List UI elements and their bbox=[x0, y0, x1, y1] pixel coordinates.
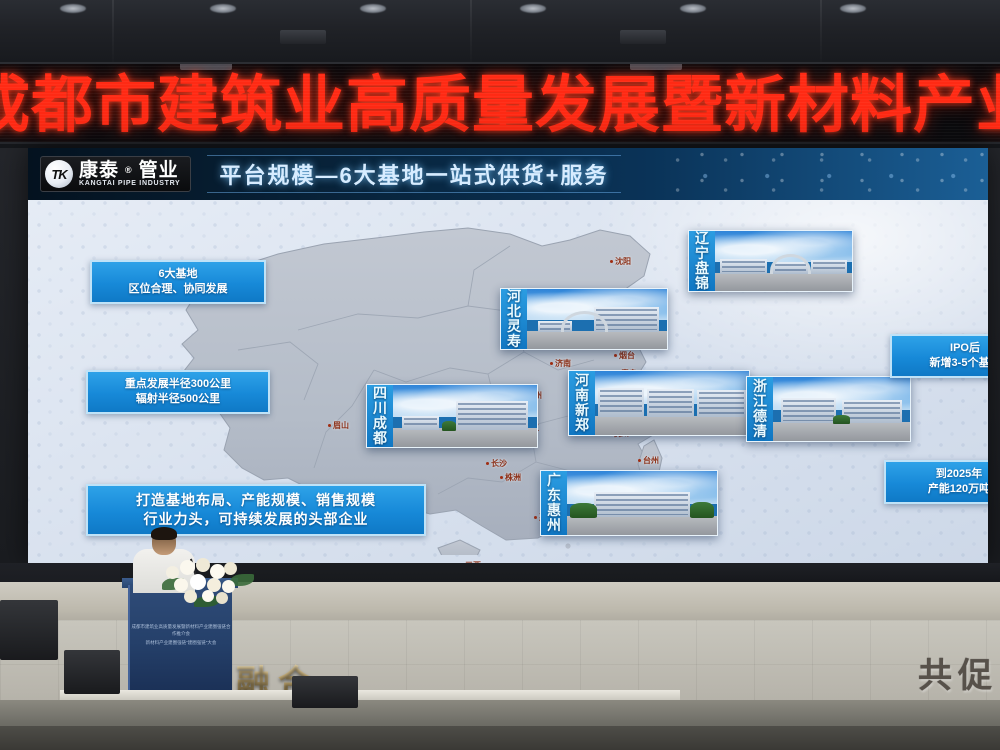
logo-registered-mark: ® bbox=[125, 161, 133, 180]
map-city-dot-icon bbox=[614, 354, 617, 357]
logo-cn-name: 康泰 bbox=[79, 161, 119, 180]
callout-radius[interactable]: 重点发展半径300公里 辐射半径500公里 bbox=[86, 370, 270, 414]
map-city-name: 眉山 bbox=[333, 420, 349, 431]
conference-room-photo: 成都市建筑业高质量发展暨新材料产业建圈强链合 TK 康泰 ® 管业 bbox=[0, 0, 1000, 750]
base-label-hebei-lingshou: 河北灵寿 bbox=[501, 289, 527, 349]
map-city-label: 眉山 bbox=[328, 420, 349, 431]
map-city-dot-icon bbox=[500, 476, 503, 479]
stage-equipment-left bbox=[0, 600, 58, 660]
callout-line: 重点发展半径300公里 bbox=[98, 377, 258, 392]
callout-line: 产能120万吨 bbox=[896, 482, 988, 497]
base-photo-hebei-lingshou bbox=[527, 289, 667, 349]
callout-capacity-2025[interactable]: 到2025年 产能120万吨 bbox=[884, 460, 988, 504]
base-photo-henan-xinzheng bbox=[595, 371, 749, 435]
callout-leader-goal[interactable]: 打造基地布局、产能规模、销售规模 行业力头，可持续发展的头部企业 bbox=[86, 484, 426, 536]
led-mount-bracket bbox=[180, 62, 232, 70]
podium-print-line-1: 成都市建筑业高质量发展暨新材料产业建圈强链合作推介会 bbox=[130, 623, 232, 637]
map-city-dot-icon bbox=[610, 260, 613, 263]
ceiling-seam bbox=[112, 0, 114, 70]
logo-cn-name-2: 管业 bbox=[139, 161, 179, 180]
base-card-guangdong-huizhou[interactable]: 广东惠州 bbox=[540, 470, 718, 536]
ceiling-light bbox=[60, 4, 86, 13]
callout-line: 6大基地 bbox=[102, 267, 254, 282]
map-city-name: 烟台 bbox=[619, 350, 635, 361]
callout-line: 区位合理、协同发展 bbox=[102, 282, 254, 297]
base-label-liaoning-panjin: 辽宁盘锦 bbox=[689, 231, 715, 291]
stage-monitor-speaker bbox=[64, 650, 120, 694]
ceiling-vent bbox=[280, 30, 326, 44]
base-card-liaoning-panjin[interactable]: 辽宁盘锦 bbox=[688, 230, 853, 292]
logo-en-name: KANGTAI PIPE INDUSTRY bbox=[79, 180, 180, 188]
ceiling-light bbox=[360, 4, 386, 13]
map-city-dot-icon bbox=[328, 424, 331, 427]
ceiling-light bbox=[680, 4, 706, 13]
map-city-label: 烟台 bbox=[614, 350, 635, 361]
ceiling-light bbox=[210, 4, 236, 13]
map-city-label: 株洲 bbox=[500, 472, 521, 483]
ceiling bbox=[0, 0, 1000, 70]
slide-title: 平台规模—6大基地一站式供货+服务 bbox=[219, 158, 608, 190]
map-hainan bbox=[438, 540, 480, 555]
callout-line: 行业力头，可持续发展的头部企业 bbox=[98, 510, 414, 529]
company-logo: TK 康泰 ® 管业 KANGTAI PIPE INDUSTRY bbox=[40, 156, 191, 192]
led-banner-text: 成都市建筑业高质量发展暨新材料产业建圈强链合 bbox=[0, 70, 1000, 142]
stage-letters-right: 共促 bbox=[918, 648, 998, 697]
map-city-name: 长沙 bbox=[491, 458, 507, 469]
callout-line: IPO后 bbox=[902, 341, 988, 356]
flower-arrangement bbox=[160, 556, 256, 608]
podium-print-line-2: 新材料产业建圈强链"建圈强链"大会 bbox=[130, 639, 232, 646]
callout-line: 新增3-5个基地 bbox=[902, 356, 988, 371]
led-banner: 成都市建筑业高质量发展暨新材料产业建圈强链合 bbox=[0, 62, 1000, 144]
base-photo-liaoning-panjin bbox=[715, 231, 852, 291]
base-photo-guangdong-huizhou bbox=[567, 471, 717, 535]
callout-line: 打造基地布局、产能规模、销售规模 bbox=[98, 491, 414, 510]
map-city-dot-icon bbox=[534, 516, 537, 519]
wall-left bbox=[0, 148, 28, 563]
ceiling-seam bbox=[820, 0, 822, 70]
callout-line: 到2025年 bbox=[896, 467, 988, 482]
slide-title-container: 平台规模—6大基地一站式供货+服务 bbox=[207, 155, 620, 193]
callout-line: 辐射半径500公里 bbox=[98, 392, 258, 407]
base-photo-sichuan-chengdu bbox=[393, 385, 537, 447]
map-city-label: 济南 bbox=[550, 358, 571, 369]
map-city-name: 沈阳 bbox=[615, 256, 631, 267]
ceiling-light bbox=[840, 4, 866, 13]
map-city-label: 长沙 bbox=[486, 458, 507, 469]
presentation-slide: TK 康泰 ® 管业 KANGTAI PIPE INDUSTRY 平台规模—6大… bbox=[28, 148, 988, 563]
base-card-zhejiang-deqing[interactable]: 浙江德清 bbox=[746, 376, 911, 442]
base-label-guangdong-huizhou: 广东惠州 bbox=[541, 471, 567, 535]
floor-front bbox=[0, 726, 1000, 750]
base-label-henan-xinzheng: 河南新郑 bbox=[569, 371, 595, 435]
speaker-hair bbox=[151, 527, 177, 540]
base-card-sichuan-chengdu[interactable]: 四川成都 bbox=[366, 384, 538, 448]
ceiling-vent bbox=[620, 30, 666, 44]
callout-six-bases[interactable]: 6大基地 区位合理、协同发展 bbox=[90, 260, 266, 304]
led-mount-bracket bbox=[630, 62, 682, 70]
projection-screen: TK 康泰 ® 管业 KANGTAI PIPE INDUSTRY 平台规模—6大… bbox=[28, 148, 988, 563]
wall-right bbox=[988, 148, 1000, 563]
base-label-sichuan-chengdu: 四川成都 bbox=[367, 385, 393, 447]
base-card-henan-xinzheng[interactable]: 河南新郑 bbox=[568, 370, 750, 436]
map-city-name: 济南 bbox=[555, 358, 571, 369]
map-city-dot-icon bbox=[550, 362, 553, 365]
slide-header: TK 康泰 ® 管业 KANGTAI PIPE INDUSTRY 平台规模—6大… bbox=[28, 148, 988, 200]
base-label-zhejiang-deqing: 浙江德清 bbox=[747, 377, 773, 441]
ceiling-seam bbox=[470, 0, 472, 70]
header-sparkle-decoration bbox=[668, 148, 988, 200]
base-card-hebei-lingshou[interactable]: 河北灵寿 bbox=[500, 288, 668, 350]
map-city-name: 台州 bbox=[643, 455, 659, 466]
map-city-dot-icon bbox=[638, 459, 641, 462]
map-city-label: 沈阳 bbox=[610, 256, 631, 267]
callout-ipo-expansion[interactable]: IPO后 新增3-5个基地 bbox=[890, 334, 988, 378]
logo-mark-icon: TK bbox=[45, 160, 73, 188]
map-city-dot-icon bbox=[486, 462, 489, 465]
ceiling-light bbox=[520, 4, 546, 13]
stage-step bbox=[292, 676, 358, 708]
map-city-label: 台州 bbox=[638, 455, 659, 466]
map-city-name: 株洲 bbox=[505, 472, 521, 483]
base-photo-zhejiang-deqing bbox=[773, 377, 910, 441]
